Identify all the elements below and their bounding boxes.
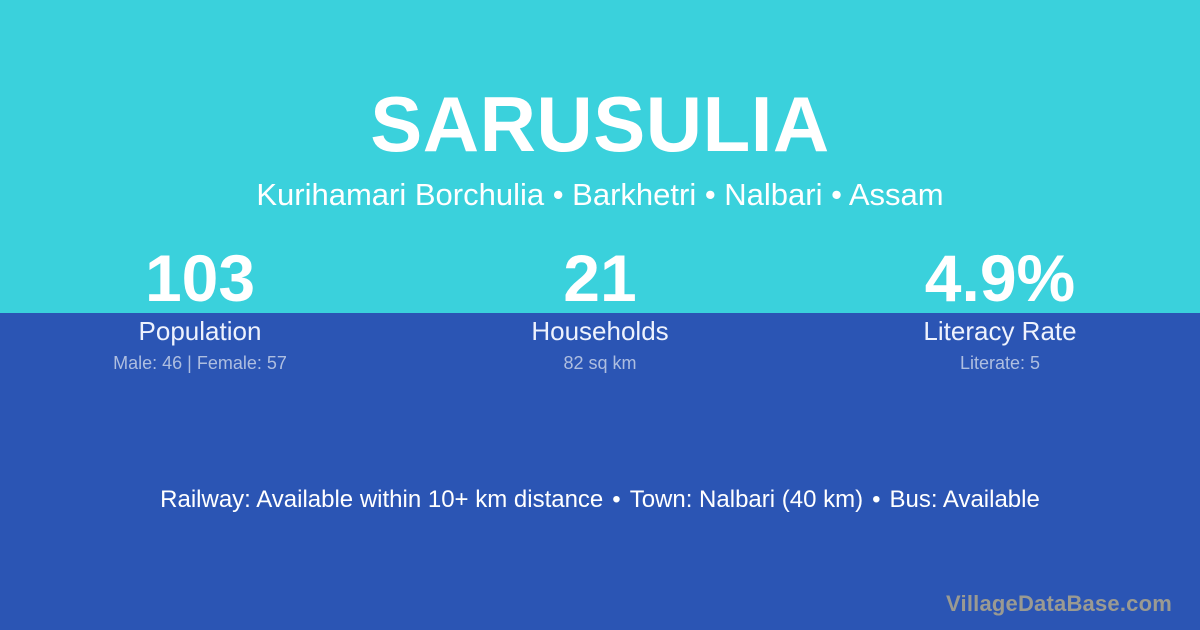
infra-separator-2: • <box>863 485 889 515</box>
stat-population-value: 103 <box>0 243 400 313</box>
stat-households-sub: 82 sq km <box>400 352 800 374</box>
infra-town: Town: Nalbari (40 km) <box>630 486 863 513</box>
stat-literacy-rate-value: 4.9% <box>800 243 1200 313</box>
infra-separator-1: • <box>603 485 629 515</box>
site-watermark: VillageDataBase.com <box>946 590 1172 618</box>
stats-row: 103 Population Male: 46 | Female: 57 21 … <box>0 243 1200 374</box>
stat-population-sub: Male: 46 | Female: 57 <box>0 352 400 374</box>
stat-households-value: 21 <box>400 243 800 313</box>
infra-bus: Bus: Available <box>890 486 1040 513</box>
stat-households-label: Households <box>400 315 800 347</box>
stat-literacy-rate-label: Literacy Rate <box>800 315 1200 347</box>
page-title: SARUSULIA <box>0 0 1200 166</box>
infra-railway: Railway: Available within 10+ km distanc… <box>160 486 603 513</box>
stat-population-label: Population <box>0 315 400 347</box>
stat-literacy-rate-sub: Literate: 5 <box>800 352 1200 374</box>
header: SARUSULIA Kurihamari Borchulia • Barkhet… <box>0 0 1200 214</box>
village-info-card: SARUSULIA Kurihamari Borchulia • Barkhet… <box>0 0 1200 630</box>
stat-literacy-rate: 4.9% Literacy Rate Literate: 5 <box>800 243 1200 374</box>
infrastructure-summary: Railway: Available within 10+ km distanc… <box>0 485 1200 515</box>
stat-population: 103 Population Male: 46 | Female: 57 <box>0 243 400 374</box>
breadcrumb: Kurihamari Borchulia • Barkhetri • Nalba… <box>0 166 1200 214</box>
stat-households: 21 Households 82 sq km <box>400 243 800 374</box>
